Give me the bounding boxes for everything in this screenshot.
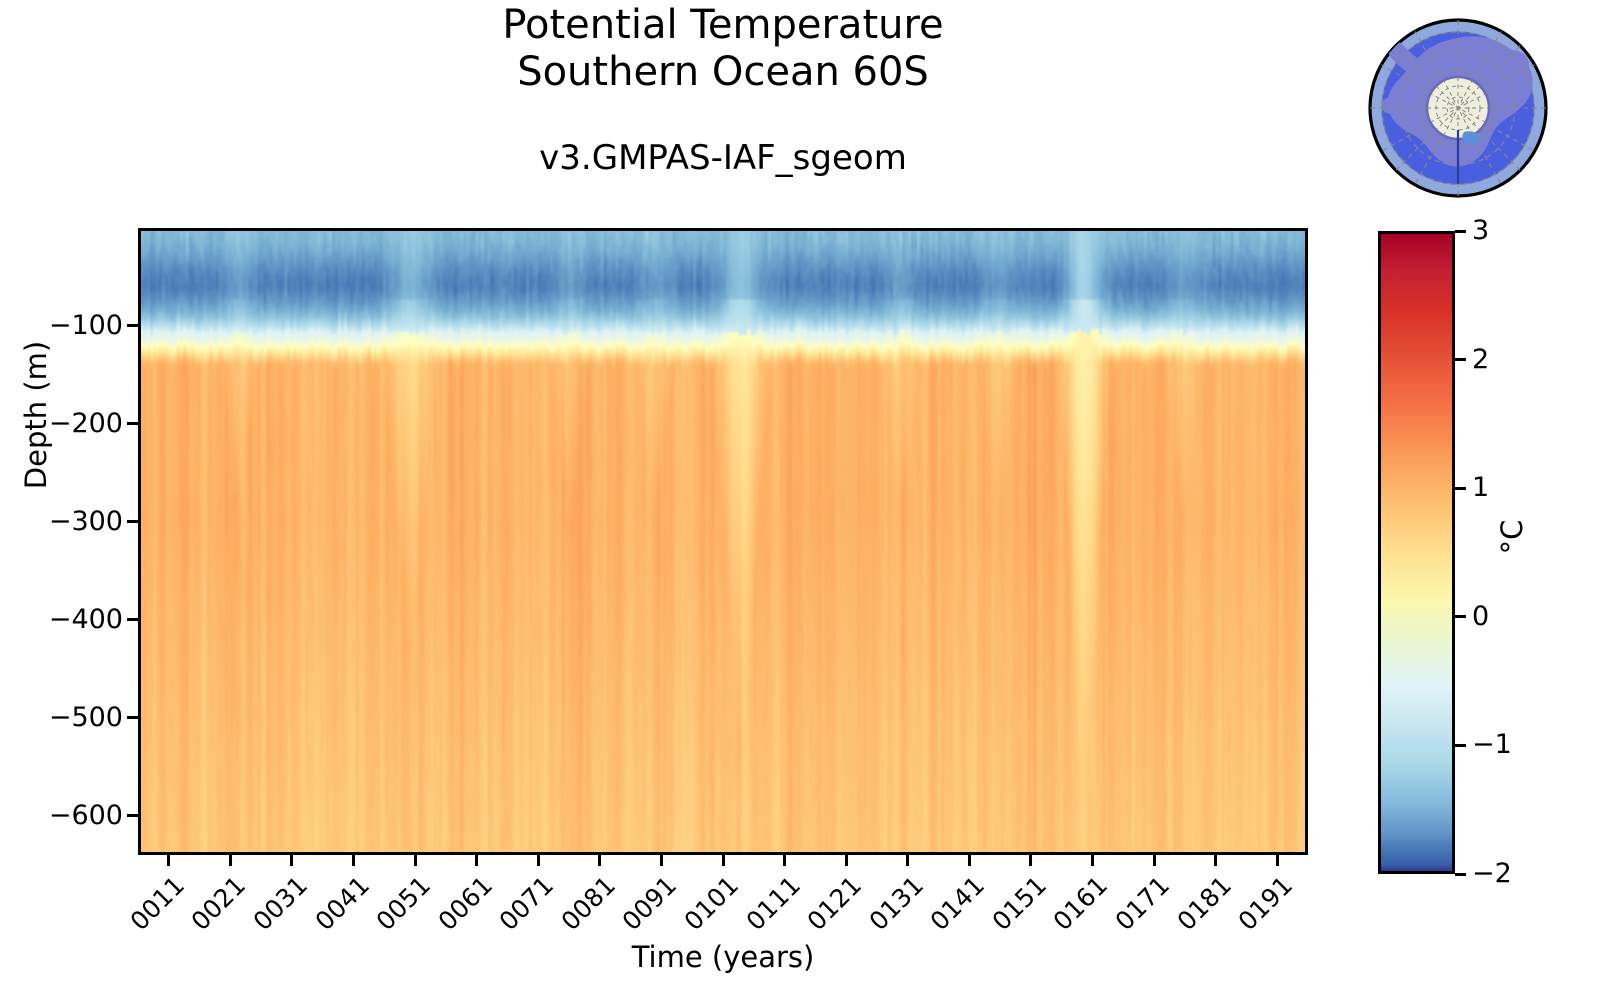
x-axis-tick-label: 0141 [925, 872, 989, 936]
x-axis-tick-mark [167, 855, 170, 866]
x-axis-tick-mark [1276, 855, 1279, 866]
x-axis-tick-label: 0051 [370, 872, 434, 936]
chart-title-line-1: Potential Temperature [138, 2, 1308, 49]
y-axis-tick-label: −400 [49, 606, 123, 633]
colorbar-tick-label: 3 [1472, 217, 1489, 244]
y-axis-tick-label: −100 [49, 312, 123, 339]
x-axis-tick-mark [1029, 855, 1032, 866]
y-axis-tick-mark [127, 422, 138, 425]
x-axis-tick-label: 0091 [617, 872, 681, 936]
y-axis-tick-label: −500 [49, 704, 123, 731]
inset-pole-graticule [1427, 77, 1489, 139]
colorbar-tick-label: 1 [1472, 474, 1489, 501]
y-axis-tick-label: −200 [49, 410, 123, 437]
colorbar-tick-mark [1455, 615, 1466, 618]
x-axis-tick-label: 0191 [1233, 872, 1297, 936]
y-axis-tick-label: −300 [49, 508, 123, 535]
colorbar-tick-mark [1455, 358, 1466, 361]
south-polar-region-inset-map [1352, 2, 1564, 214]
x-axis-tick-mark [783, 855, 786, 866]
x-axis-tick-label: 0151 [986, 872, 1050, 936]
x-axis-tick-mark [414, 855, 417, 866]
colorbar-tick-label: 2 [1472, 346, 1489, 373]
x-axis-tick-mark [229, 855, 232, 866]
y-axis-tick-mark [127, 618, 138, 621]
colorbar-tick-mark [1455, 873, 1466, 876]
colorbar-tick-mark [1455, 487, 1466, 490]
x-axis-tick-label: 0061 [432, 872, 496, 936]
x-axis-tick-mark [1153, 855, 1156, 866]
x-axis-tick-mark [660, 855, 663, 866]
colorbar-gradient [1381, 234, 1452, 871]
colorbar [1378, 231, 1455, 874]
x-axis-tick-label: 0081 [555, 872, 619, 936]
x-axis-tick-label: 0181 [1171, 872, 1235, 936]
x-axis-tick-label: 0111 [740, 872, 804, 936]
x-axis-tick-label: 0161 [1048, 872, 1112, 936]
x-axis-tick-label: 0131 [863, 872, 927, 936]
x-axis-tick-label: 0041 [309, 872, 373, 936]
y-axis-tick-mark [127, 716, 138, 719]
x-axis-tick-mark [722, 855, 725, 866]
chart-title-line-2: Southern Ocean 60S [138, 49, 1308, 96]
y-axis-tick-mark [127, 520, 138, 523]
heatmap-image [141, 231, 1305, 852]
x-axis-tick-mark [475, 855, 478, 866]
x-axis-tick-mark [906, 855, 909, 866]
x-axis-tick-mark [352, 855, 355, 866]
x-axis-tick-mark [598, 855, 601, 866]
x-axis-tick-label: 0071 [494, 872, 558, 936]
x-axis-tick-label: 0031 [247, 872, 311, 936]
x-axis-tick-mark [537, 855, 540, 866]
x-axis-tick-label: 0021 [186, 872, 250, 936]
colorbar-tick-label: −2 [1472, 860, 1512, 887]
x-axis-tick-label: 0101 [678, 872, 742, 936]
colorbar-unit-label: °C [1495, 477, 1529, 597]
y-axis-tick-mark [127, 814, 138, 817]
x-axis-tick-label: 0011 [124, 872, 188, 936]
chart-title: Potential Temperature Southern Ocean 60S [138, 2, 1308, 96]
heatmap-plot-area [138, 228, 1308, 855]
chart-subtitle: v3.GMPAS-IAF_sgeom [138, 138, 1308, 178]
colorbar-tick-label: 0 [1472, 603, 1489, 630]
x-axis-tick-mark [1091, 855, 1094, 866]
x-axis-tick-mark [290, 855, 293, 866]
y-axis-tick-label: −600 [49, 802, 123, 829]
colorbar-tick-label: −1 [1472, 731, 1512, 758]
x-axis-tick-mark [1214, 855, 1217, 866]
x-axis-tick-mark [845, 855, 848, 866]
x-axis-label: Time (years) [138, 940, 1308, 974]
x-axis-tick-mark [968, 855, 971, 866]
x-axis-tick-label: 0171 [1109, 872, 1173, 936]
colorbar-tick-mark [1455, 230, 1466, 233]
x-axis-tick-label: 0121 [801, 872, 865, 936]
colorbar-tick-mark [1455, 744, 1466, 747]
y-axis-tick-mark [127, 324, 138, 327]
